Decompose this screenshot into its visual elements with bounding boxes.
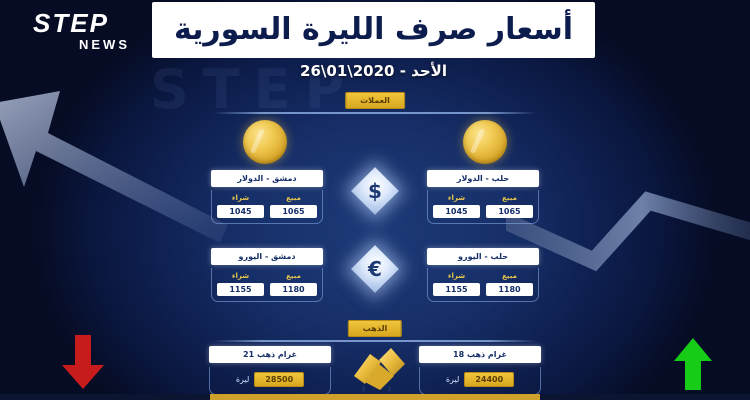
rate-card-title: حلب - اليورو (427, 248, 539, 265)
rate-card-body: مبيع 1180 شراء 1155 (427, 268, 539, 302)
gold-card-title: غرام ذهب 18 (419, 346, 541, 363)
bottom-accent-strip (0, 394, 750, 400)
green-up-arrow-icon (672, 338, 714, 390)
page-title-banner: أسعار صرف الليرة السورية (152, 2, 595, 58)
rate-column-sell: مبيع 1180 (270, 272, 317, 296)
rate-column-sell: مبيع 1180 (486, 272, 533, 296)
gold-coin-right (463, 120, 507, 164)
currency-symbol: $ (368, 181, 382, 201)
logo-secondary-text: NEWS (79, 38, 130, 51)
rate-card-title: حلب - الدولار (427, 170, 539, 187)
gold-card-value: 24400 (464, 372, 514, 387)
gold-card-body: 24400 ليرة (419, 367, 541, 395)
rate-column-value: 1180 (486, 283, 533, 296)
rate-card-damascus-dollar[interactable]: دمشق - الدولار مبيع 1065 شراء 1045 (211, 170, 323, 224)
currency-symbol: € (368, 259, 382, 279)
infographic-canvas: STEP STEP NEWS أسعار صرف الليرة السورية … (0, 0, 750, 400)
rate-card-damascus-euro[interactable]: دمشق - اليورو مبيع 1180 شراء 1155 (211, 248, 323, 302)
gold-card-unit: ليرة (236, 375, 249, 384)
gold-card-gram-18[interactable]: غرام ذهب 18 24400 ليرة (419, 346, 541, 395)
rate-card-title: دمشق - اليورو (211, 248, 323, 265)
red-down-arrow-icon (60, 335, 106, 390)
step-news-logo[interactable]: STEP NEWS (8, 4, 134, 56)
euro-diamond-icon: € (352, 246, 398, 292)
page-date: الأحد - 2020\01\26 (152, 62, 595, 80)
rate-card-aleppo-dollar[interactable]: حلب - الدولار مبيع 1065 شراء 1045 (427, 170, 539, 224)
page-title: أسعار صرف الليرة السورية (174, 15, 573, 45)
rate-column-sell: مبيع 1065 (486, 194, 533, 218)
gold-card-body: 28500 ليرة (209, 367, 331, 395)
rate-column-label: شراء (217, 272, 264, 280)
rate-card-aleppo-euro[interactable]: حلب - اليورو مبيع 1180 شراء 1155 (427, 248, 539, 302)
rate-column-value: 1045 (217, 205, 264, 218)
rate-column-label: مبيع (486, 272, 533, 280)
decorative-up-left-arrow-icon (0, 55, 232, 245)
rate-column-sell: مبيع 1065 (270, 194, 317, 218)
rate-card-body: مبيع 1065 شراء 1045 (427, 190, 539, 224)
rate-column-buy: شراء 1045 (433, 194, 480, 218)
rate-column-label: شراء (433, 272, 480, 280)
rate-column-value: 1155 (433, 283, 480, 296)
gold-card-gram-21[interactable]: غرام ذهب 21 28500 ليرة (209, 346, 331, 395)
rate-column-buy: شراء 1155 (433, 272, 480, 296)
us-dollar-diamond-icon: $ (352, 168, 398, 214)
gold-card-value: 28500 (254, 372, 304, 387)
rate-column-value: 1065 (486, 205, 533, 218)
gold-card-title: غرام ذهب 21 (209, 346, 331, 363)
rate-card-body: مبيع 1180 شراء 1155 (211, 268, 323, 302)
rate-card-title: دمشق - الدولار (211, 170, 323, 187)
rate-column-label: مبيع (270, 272, 317, 280)
rate-column-value: 1155 (217, 283, 264, 296)
rate-column-label: شراء (217, 194, 264, 202)
rate-column-label: شراء (433, 194, 480, 202)
rate-column-value: 1065 (270, 205, 317, 218)
gold-ingots-icon (348, 342, 410, 392)
gold-coin-left (243, 120, 287, 164)
section-divider-currency (213, 112, 537, 114)
rate-column-label: مبيع (270, 194, 317, 202)
section-badge-currency: العملات (345, 92, 405, 109)
gold-card-unit: ليرة (446, 375, 459, 384)
section-badge-gold: الذهب (348, 320, 402, 337)
rate-card-body: مبيع 1065 شراء 1045 (211, 190, 323, 224)
logo-primary-text: STEP (33, 10, 109, 36)
rate-column-value: 1045 (433, 205, 480, 218)
rate-column-buy: شراء 1155 (217, 272, 264, 296)
rate-column-label: مبيع (486, 194, 533, 202)
rate-column-buy: شراء 1045 (217, 194, 264, 218)
rate-column-value: 1180 (270, 283, 317, 296)
